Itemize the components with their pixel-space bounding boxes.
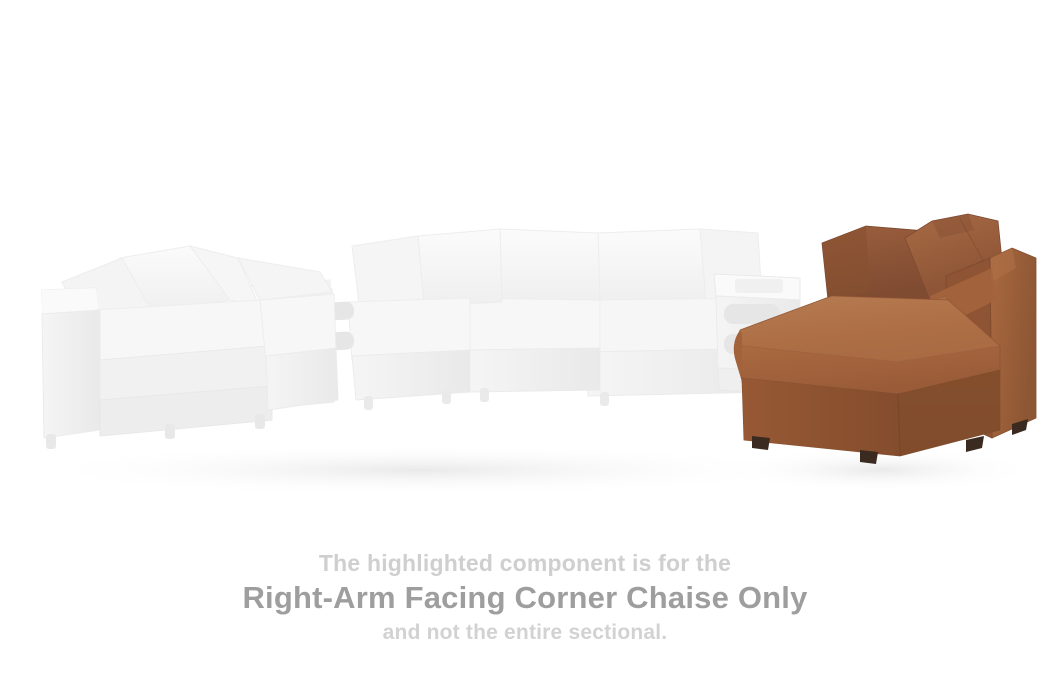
chaise-leg-front-left — [752, 436, 770, 450]
caption-line-1: The highlighted component is for the — [0, 548, 1050, 578]
caption-line-3: and not the entire sectional. — [0, 618, 1050, 647]
chaise-leg-front-center — [860, 450, 878, 464]
ghosted-sectional-group — [42, 229, 800, 449]
floor-shadow-highlight — [720, 448, 1040, 492]
product-image-page: The highlighted component is for the Rig… — [0, 0, 1050, 700]
module-right-arm-facing-corner-chaise — [734, 214, 1036, 464]
sectional-illustration — [0, 0, 1050, 530]
caption-component-name: Right-Arm Facing Corner Chaise Only — [0, 578, 1050, 618]
floor-shadow-ghost — [20, 444, 820, 496]
sectional-illustration-svg — [0, 0, 1050, 530]
caption-block: The highlighted component is for the Rig… — [0, 548, 1050, 647]
module-left-arm-facing-loveseat — [42, 246, 272, 449]
